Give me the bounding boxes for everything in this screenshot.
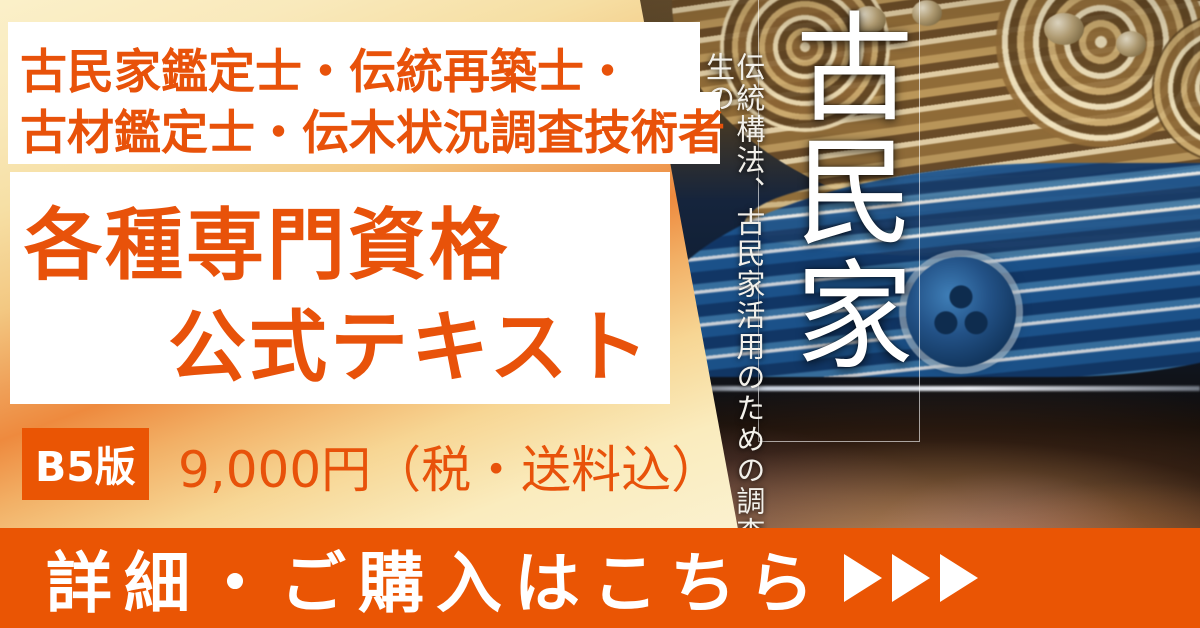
book-cover-title: 古民家 [770, 6, 910, 378]
cta-bar[interactable]: 詳細・ご購入はこちら [0, 528, 1200, 628]
format-badge-b5: B5版 [22, 428, 149, 500]
triangle-right-icon [892, 554, 930, 602]
triangle-right-icon [844, 554, 882, 602]
heading-line1: 古民家鑑定士・伝統再築士・ [20, 33, 631, 102]
main-title-line1: 各種専門資格 [24, 183, 510, 295]
main-title-line2: 公式テキスト [168, 285, 652, 397]
heading-line2: 古材鑑定士・伝木状況調査技術者 [20, 94, 725, 163]
price-text: 9,000円（税・送料込） [178, 430, 721, 502]
promo-banner: 古民家 伝統構法、古民家活用のための調査と再生の 古民家鑑定士・伝統再築士・ 古… [0, 0, 1200, 628]
cta-label: 詳細・ご購入はこちら [46, 530, 826, 626]
cta-arrow-group [844, 554, 978, 602]
triangle-right-icon [940, 554, 978, 602]
